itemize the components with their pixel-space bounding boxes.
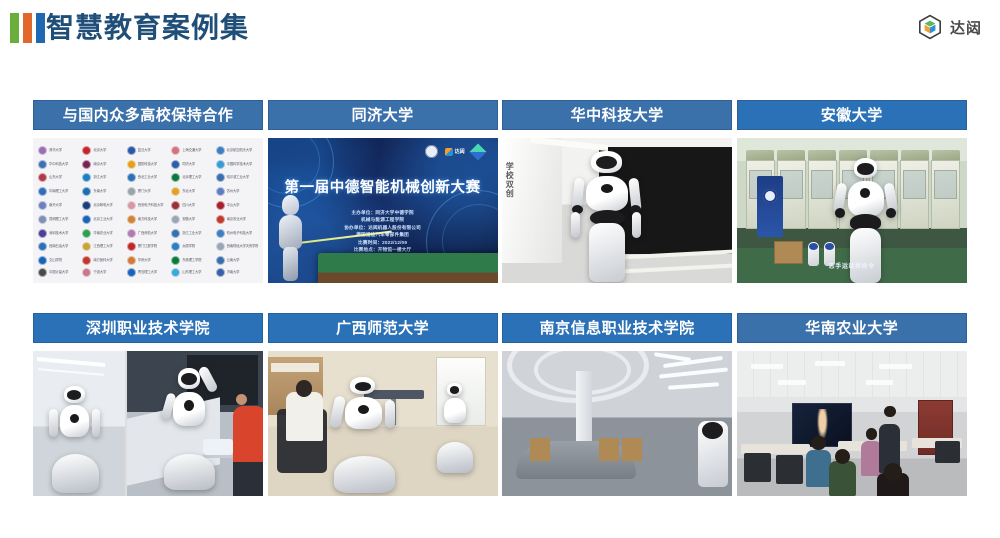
photo-scene: [737, 351, 967, 496]
university-name: 华侨大学: [138, 258, 151, 263]
university-name: 杭州电子科技大学: [227, 231, 253, 236]
ceiling-light: [866, 380, 894, 385]
university-logo-chip: 东南大学: [82, 185, 124, 198]
service-robot: [46, 386, 105, 493]
university-logo-chip: 华侨大学: [127, 254, 169, 267]
university-name: 山东大学: [49, 175, 62, 180]
university-seal-icon: [216, 201, 225, 210]
university-name: 中国计量大学: [49, 270, 68, 275]
robot-lower-body: [589, 223, 626, 282]
wall-sign-text: 学校双创: [504, 162, 515, 198]
anhui-lab-robot-photo: 志手运动帮命令: [737, 138, 967, 283]
university-name: 南京大学: [93, 162, 106, 167]
university-logo-chip: 山东大学: [38, 172, 80, 185]
service-robot-background: [433, 383, 477, 473]
case-card-guangxi[interactable]: 广西师范大学: [268, 313, 498, 496]
university-name: 华中科技大学: [49, 162, 68, 167]
robot-elbow-left: [835, 208, 845, 218]
university-logo-chip: 西安电子科技大学: [127, 199, 169, 212]
university-name: 南开大学: [49, 203, 62, 208]
shenzhen-service-robots-photo: [33, 351, 263, 496]
university-seal-icon: [216, 146, 225, 155]
service-robot: [330, 377, 399, 493]
university-seal-icon: [216, 268, 225, 277]
university-logo-chip: 厦门大学: [127, 185, 169, 198]
desktop-computer: [935, 441, 960, 463]
university-seal-icon: [82, 215, 91, 224]
case-label: 南京信息职业技术学院: [502, 313, 732, 343]
page-title: 智慧教育案例集: [46, 9, 249, 47]
university-logo-chip: 浙江工业大学: [171, 227, 213, 240]
robot-lower-body: [850, 228, 882, 283]
photo-right: [127, 351, 263, 496]
sponsor-brand-name: 达闼: [455, 148, 465, 155]
nanjing-lobby-robot-photo: [502, 351, 732, 496]
university-name: 深圳技术大学: [49, 231, 68, 236]
photo-scene: [268, 351, 498, 496]
lab-banner: [757, 176, 782, 237]
lab-cabinet: [900, 160, 929, 230]
university-name: 浙江大学: [93, 175, 106, 180]
university-seal-icon: [171, 229, 180, 238]
university-logo-chip: 安徽大学: [171, 213, 213, 226]
accent-bar-orange: [23, 13, 32, 43]
university-name: 哈尔滨工业大学: [227, 175, 249, 180]
robot-face: [355, 382, 372, 391]
university-logo-chip: 中国科学技术大学: [216, 158, 258, 171]
guangxi-classroom-robots-photo: [268, 351, 498, 496]
university-name: 南京农业大学: [227, 217, 246, 222]
brand-logo: 达闼: [917, 14, 982, 40]
university-logo-chip: 杭州电子科技大学: [216, 227, 258, 240]
university-seal-icon: [82, 173, 91, 182]
university-name: 北京大学: [93, 148, 106, 153]
university-seal-icon: [127, 201, 136, 210]
university-name: 江西理工大学: [93, 244, 112, 249]
university-logo-chip: 昆明理工大学: [38, 213, 80, 226]
university-logo-chip: 哈尔滨工业大学: [216, 172, 258, 185]
service-robot: [160, 368, 220, 490]
robot-arm-right: [92, 409, 100, 437]
university-seal-icon: [38, 187, 47, 196]
photo-scene: [33, 351, 263, 496]
university-seal-icon: [38, 268, 47, 277]
university-name: 文山学院: [49, 258, 62, 263]
university-name: 东南大学: [93, 189, 106, 194]
humanoid-robot: [562, 151, 654, 282]
university-logo-chip: 济南大学: [216, 268, 258, 277]
case-label: 同济大学: [268, 100, 498, 130]
university-logo-chip: 深圳技术大学: [38, 227, 80, 240]
ceiling-tiles: [737, 351, 967, 397]
university-logo-chip: 西南石油大学: [38, 240, 80, 253]
wooden-crate: [599, 438, 620, 461]
university-name: 南方医科大学: [93, 258, 112, 263]
poster-sponsor-logos: 达闼: [425, 145, 484, 158]
university-logo-chip: 北京航空航天大学: [216, 144, 258, 157]
university-name: 西安电子科技大学: [138, 203, 164, 208]
university-logo-chip: 南方科技大学: [127, 213, 169, 226]
university-seal-icon: [171, 146, 180, 155]
page-header: 智慧教育案例集 达闼: [0, 0, 1000, 58]
university-logo-chip: 太原学院: [171, 240, 213, 253]
university-name: 厦门大学: [138, 189, 151, 194]
university-logo-chip: 东莞理工学院: [171, 254, 213, 267]
university-seal-icon: [127, 173, 136, 182]
university-name: 四川大学: [182, 203, 195, 208]
wooden-crate: [622, 438, 643, 461]
robot-elbow-right: [886, 208, 896, 218]
case-label: 广西师范大学: [268, 313, 498, 343]
robot-wheel-base: [334, 456, 395, 493]
cloudminds-logo: 达闼: [445, 148, 465, 156]
poster-background: 达闼 第一届中德智能机械创新大赛 主办单位：同济大学中德学院 机械与能源工程学院…: [268, 138, 498, 283]
university-logo-chip: 南京农业大学: [216, 213, 258, 226]
university-seal-icon: [38, 160, 47, 169]
university-name: 西南石油大学: [49, 244, 68, 249]
university-name: 上海交通大学: [182, 148, 201, 153]
university-name: 青岛理工大学: [138, 270, 157, 275]
university-name: 厦门江夏学院: [138, 244, 157, 249]
university-logo-chip: 国防科技大学: [127, 158, 169, 171]
university-seal-icon: [171, 173, 180, 182]
robot-chest-light: [601, 184, 613, 193]
university-name: 济南大学: [227, 270, 240, 275]
university-seal-icon: [127, 160, 136, 169]
university-seal-icon: [127, 229, 136, 238]
university-name: 同济大学: [182, 162, 195, 167]
case-label: 华南农业大学: [737, 313, 967, 343]
university-seal-icon: [171, 160, 180, 169]
robot-wheel-base: [437, 442, 474, 473]
university-name: 安徽大学: [182, 217, 195, 222]
university-logo-chip: 中国计量大学: [38, 268, 80, 277]
ceiling-light: [37, 357, 105, 367]
university-name: 昆明理工大学: [49, 217, 68, 222]
university-logo-chip: 北京工业大学: [82, 213, 124, 226]
robot-wheel-base: [52, 454, 99, 493]
university-seal-icon: [82, 187, 91, 196]
university-name: 西北工业大学: [138, 175, 157, 180]
robot-face: [857, 163, 874, 174]
university-name: 北京理工大学: [182, 175, 201, 180]
university-seal-icon: [216, 242, 225, 251]
university-logo-chip: 上海交通大学: [171, 144, 213, 157]
university-seal-icon: [127, 215, 136, 224]
person-in-red-shirt: [233, 406, 263, 496]
university-logo-chip: 云南大学: [216, 254, 258, 267]
university-name: 东北大学: [182, 189, 195, 194]
case-card-hust[interactable]: 华中科技大学 学校双创: [502, 100, 732, 283]
university-seal-icon: [38, 201, 47, 210]
case-card-shenzhen[interactable]: 深圳职业技术学院: [33, 313, 263, 496]
robot-forearm-left: [571, 212, 580, 238]
university-name: 国防科技大学: [138, 162, 157, 167]
robot-head: [282, 195, 299, 215]
university-logo-chip: 山东理工大学: [171, 268, 213, 277]
ceiling-light: [751, 364, 783, 369]
university-seal-icon: [82, 146, 91, 155]
university-logo-chip: 文山学院: [38, 254, 80, 267]
case-card-nanjing[interactable]: 南京信息职业技术学院: [502, 313, 732, 496]
university-seal-icon: [216, 256, 225, 265]
university-seal-icon: [38, 256, 47, 265]
university-name: 苏州大学: [227, 189, 240, 194]
university-logo-chip: 清华大学: [38, 144, 80, 157]
university-seal-icon: [82, 229, 91, 238]
humanoid-robot-illustration: [274, 195, 308, 281]
university-name: 云南大学: [227, 258, 240, 263]
university-logo-chip: 西北工业大学: [127, 172, 169, 185]
robot-face: [67, 390, 81, 400]
logo-wall-grid: 清华大学北京大学复旦大学上海交通大学北京航空航天大学华中科技大学南京大学国防科技…: [33, 138, 263, 283]
brand-name: 达闼: [950, 17, 982, 38]
university-seal-icon: [82, 268, 91, 277]
university-logo-chip: 苏州大学: [216, 185, 258, 198]
case-label: 与国内众多高校保持合作: [33, 100, 263, 130]
university-name: 太原学院: [182, 244, 195, 249]
competition-poster: 达闼 第一届中德智能机械创新大赛 主办单位：同济大学中德学院 机械与能源工程学院…: [268, 138, 498, 283]
case-card-scau[interactable]: 华南农业大学: [737, 313, 967, 496]
desktop-computer: [776, 455, 804, 484]
hexagon-cube-icon: [917, 14, 943, 40]
university-name: 中山大学: [227, 203, 240, 208]
robot-arm-raised: [197, 365, 218, 393]
university-logo-chip: 南开大学: [38, 199, 80, 212]
university-name: 华南农业大学: [93, 231, 112, 236]
university-name: 西南财经大学天府学院: [227, 244, 258, 249]
robot-forearm-right: [632, 212, 641, 238]
university-name: 东莞理工学院: [182, 258, 201, 263]
university-seal-icon: [127, 146, 136, 155]
university-seal-icon: [216, 187, 225, 196]
university-name: 广西师范大学: [138, 231, 157, 236]
lab-cabinet: [931, 160, 960, 230]
university-logo-chip: 厦门江夏学院: [127, 240, 169, 253]
university-name: 北京航空航天大学: [227, 148, 253, 153]
robot-torso: [444, 398, 466, 423]
university-logo-chip: 江西理工大学: [82, 240, 124, 253]
university-seal-icon: [38, 242, 47, 251]
university-name: 清华大学: [49, 148, 62, 153]
robot-torso: [586, 176, 628, 211]
university-seal-icon: [171, 256, 180, 265]
university-logo-chip: 南京大学: [82, 158, 124, 171]
robot-face: [450, 386, 460, 393]
university-name: 华南理工大学: [49, 189, 68, 194]
university-logo-chip: 宁波大学: [82, 268, 124, 277]
scau-computer-classroom-photo: [737, 351, 967, 496]
university-logo-chip: 浙江大学: [82, 172, 124, 185]
university-seal-icon: [216, 229, 225, 238]
robot-arm-right: [385, 400, 395, 428]
partner-diamond-icon: [469, 143, 486, 160]
university-logo-chip: 华中科技大学: [38, 158, 80, 171]
case-grid: 与国内众多高校保持合作 清华大学北京大学复旦大学上海交通大学北京航空航天大学华中…: [33, 100, 967, 496]
university-seal-icon: [82, 256, 91, 265]
photo-scene: [502, 351, 732, 496]
hust-hallway-robot-photo: 学校双创: [502, 138, 732, 283]
university-name: 南方科技大学: [138, 217, 157, 222]
robot-chest-light: [184, 400, 194, 411]
university-name: 北京工业大学: [93, 217, 112, 222]
university-logo-chip: 西南财经大学天府学院: [216, 240, 258, 253]
university-logo-chip: 华南理工大学: [38, 185, 80, 198]
robot-arm-left: [49, 409, 57, 437]
university-logo-chip: 同济大学: [171, 158, 213, 171]
university-seal-icon: [425, 145, 438, 158]
case-label: 深圳职业技术学院: [33, 313, 263, 343]
photo-scene: 志手运动帮命令: [737, 138, 967, 283]
university-logo-chip: 北京理工大学: [171, 172, 213, 185]
university-seal-icon: [38, 146, 47, 155]
university-seal-icon: [82, 201, 91, 210]
university-logo-chip: 华南农业大学: [82, 227, 124, 240]
side-wall: 学校双创: [502, 138, 562, 263]
university-logo-chip: 复旦大学: [127, 144, 169, 157]
poster-title: 第一届中德智能机械创新大赛: [268, 176, 498, 197]
university-seal-icon: [171, 242, 180, 251]
photo-caption: 志手运动帮命令: [737, 261, 967, 270]
case-label: 华中科技大学: [502, 100, 732, 130]
student: [877, 473, 909, 496]
university-name: 山东理工大学: [182, 270, 201, 275]
robot-torso: [848, 181, 884, 216]
university-seal-icon: [38, 215, 47, 224]
university-logo-chip: 北京邮电大学: [82, 199, 124, 212]
brand-accent-bars: [10, 13, 45, 43]
university-seal-icon: [38, 229, 47, 238]
university-seal-icon: [171, 201, 180, 210]
university-seal-icon: [171, 187, 180, 196]
seated-person: [286, 392, 323, 441]
accent-bar-blue: [36, 13, 45, 43]
university-seal-icon: [216, 160, 225, 169]
split-photo-pair: [33, 351, 263, 496]
university-logo-chip: 中山大学: [216, 199, 258, 212]
university-seal-icon: [171, 268, 180, 277]
ceiling-light: [815, 361, 845, 366]
university-seal-icon: [127, 256, 136, 265]
wooden-crate: [530, 438, 551, 461]
cube-icon: [445, 148, 453, 156]
university-name: 宁波大学: [93, 270, 106, 275]
robot-body: [279, 215, 302, 249]
university-logo-chip: 青岛理工大学: [127, 268, 169, 277]
university-logo-chip: 东北大学: [171, 185, 213, 198]
university-seal-icon: [127, 268, 136, 277]
university-name: 浙江工业大学: [182, 231, 201, 236]
student: [806, 450, 831, 488]
case-card-anhui[interactable]: 安徽大学: [737, 100, 967, 283]
university-name: 复旦大学: [138, 148, 151, 153]
university-name: 北京邮电大学: [93, 203, 112, 208]
case-card-universities[interactable]: 与国内众多高校保持合作 清华大学北京大学复旦大学上海交通大学北京航空航天大学华中…: [33, 100, 263, 283]
university-seal-icon: [216, 215, 225, 224]
university-seal-icon: [82, 242, 91, 251]
university-logo-wall: 清华大学北京大学复旦大学上海交通大学北京航空航天大学华中科技大学南京大学国防科技…: [33, 138, 263, 283]
university-logo-chip: 北京大学: [82, 144, 124, 157]
ceiling-light: [879, 364, 911, 369]
university-seal-icon: [171, 215, 180, 224]
university-seal-icon: [127, 242, 136, 251]
case-label: 安徽大学: [737, 100, 967, 130]
desktop-computer: [744, 453, 772, 482]
service-robot: [698, 421, 728, 488]
university-logo-chip: 南方医科大学: [82, 254, 124, 267]
university-seal-icon: [38, 173, 47, 182]
ceiling-light: [778, 380, 806, 385]
university-logo-chip: 四川大学: [171, 199, 213, 212]
photo-scene: 学校双创: [502, 138, 732, 283]
robot-wheel-base: [164, 454, 214, 491]
university-seal-icon: [216, 173, 225, 182]
university-seal-icon: [82, 160, 91, 169]
university-name: 中国科学技术大学: [227, 162, 253, 167]
robot-legs: [283, 247, 298, 281]
university-seal-icon: [127, 187, 136, 196]
photo-left: [33, 351, 125, 496]
billiard-table: [318, 253, 497, 283]
student: [829, 461, 857, 496]
case-card-tongji[interactable]: 同济大学 达闼 第一届中德智能机械创新大赛 主办单位：同济大学中德学院: [268, 100, 498, 283]
accent-bar-green: [10, 13, 19, 43]
university-logo-chip: 广西师范大学: [127, 227, 169, 240]
